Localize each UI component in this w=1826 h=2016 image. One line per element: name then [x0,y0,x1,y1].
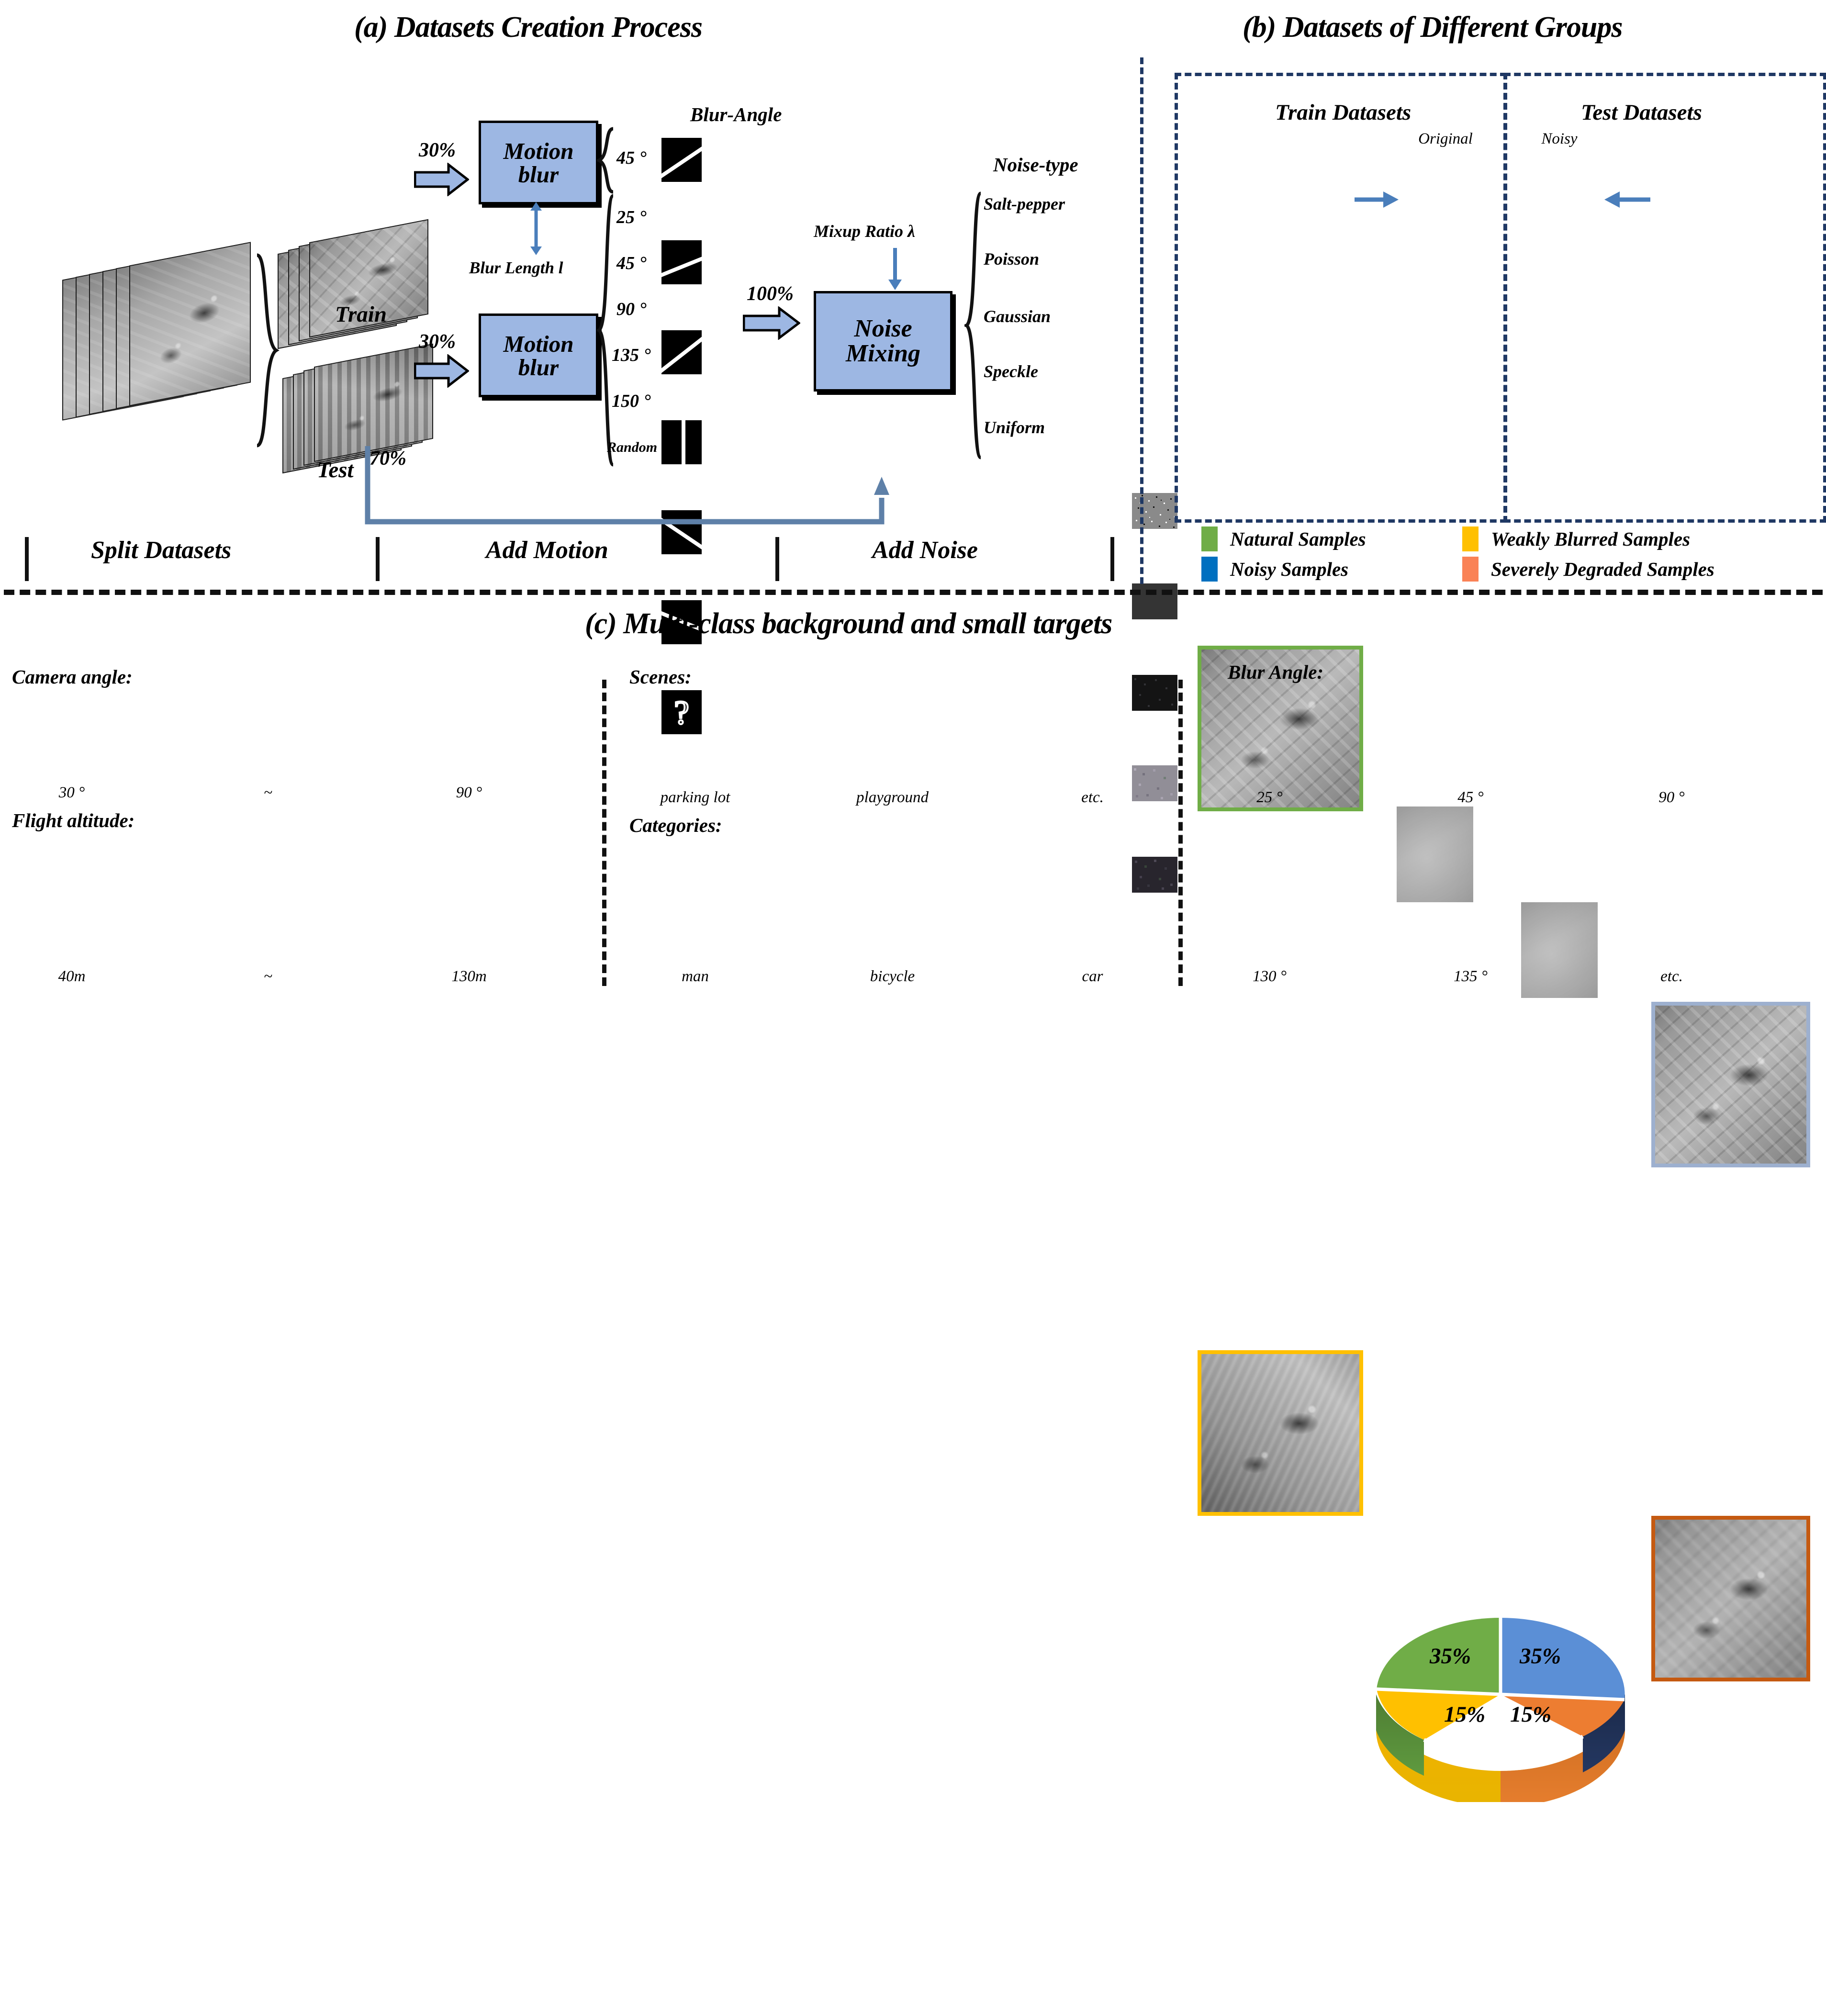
svg-text:?: ? [674,694,689,731]
stage-label-0: Split Datasets [91,536,231,564]
train-label: Train [335,302,387,327]
stage-divider-0 [25,537,29,581]
blur-angle-caption-0: 25 ° [1228,789,1311,806]
motion-blur-line2: blur [518,163,559,186]
blur-angle-caption-1: 45 ° [1429,789,1512,806]
motion-blur-box-test[interactable]: Motion blur [479,314,598,397]
noise-swatch-uniform [1132,857,1177,893]
noisy-thumb [1521,902,1598,998]
blur-kernel-25 [661,240,702,284]
pie-label-yellow: 15% [1444,1702,1485,1727]
stage-divider-1 [376,537,380,581]
blur-angle-label-0: 45 ° [616,147,647,168]
motion-blur-line1-b: Motion [503,332,573,356]
panel-c-title: (c) Multi-class background and small tar… [585,607,1112,641]
noise-type-label-4: Uniform [984,417,1045,437]
train-datasets-header: Train Datasets [1275,100,1411,125]
flight-altitude-caption-0: 40m [19,968,124,986]
categories-caption-1: bicycle [848,968,937,986]
stage-divider-2 [775,537,779,581]
noise-swatch-salt-pepper [1132,493,1177,529]
blur-angle-caption-4: 135 ° [1429,968,1512,986]
camera-angle-caption-2: 90 ° [426,784,512,802]
blur-angle-label-3: 90 ° [616,299,647,320]
scenes-caption-0: parking lot [651,789,739,806]
motion-blur-box-train[interactable]: Motion blur [479,121,598,204]
noise-type-label-3: Speckle [984,361,1038,381]
scenes-caption-1: playground [848,789,937,806]
panel-a-title: (a) Datasets Creation Process [354,11,702,45]
scenes-header: Scenes: [629,665,692,688]
noisy-label: Noisy [1521,130,1598,148]
sample-severely-degraded-image [1651,1516,1810,1681]
blur-kernel-45a [661,138,702,182]
flight-altitude-caption-2: 130m [426,968,512,986]
bypass-path-icon [364,445,890,536]
stage-label-1: Add Motion [486,536,608,564]
arrow-to-noisemixing-icon [743,306,800,340]
arrow-natural-to-original-icon [1355,188,1400,212]
pie-label-orange: 15% [1510,1702,1551,1727]
noise-swatch-poisson [1132,583,1177,619]
blur-angle-label-1: 25 ° [616,207,647,228]
camera-angle-header: Camera angle: [12,665,133,688]
scenes-caption-2: etc. [1048,789,1137,806]
blur-angle-header: Blur-Angle [690,103,782,126]
noise-type-label-2: Gaussian [984,306,1051,326]
legend-swatch-noisy [1201,557,1218,582]
categories-caption-0: man [651,968,739,986]
percent-train-blur: 30% [419,139,456,162]
sample-weakly-blurred-image [1198,1350,1363,1516]
legend-item-weakly-blurred: Weakly Blurred Samples [1462,526,1690,551]
arrow-test-to-motionblur-icon [414,354,469,388]
blur-kernel-random: ? [661,690,702,734]
source-image-stack [62,254,254,445]
camera-angle-caption-0: 30 ° [19,784,124,802]
pie-label-green: 35% [1430,1643,1471,1669]
panel-c-divider-2 [1178,680,1183,986]
noise-mixing-box[interactable]: Noise Mixing [814,291,952,392]
percent-to-noise: 100% [747,282,794,305]
noise-type-label-1: Poisson [984,249,1039,269]
noise-type-brace [964,191,984,459]
blur-angle-caption-5: etc. [1630,968,1714,986]
legend-label-natural: Natural Samples [1230,527,1366,550]
blur-angle-label-4: 135 ° [612,345,651,366]
stage-divider-3 [1110,537,1114,581]
legend-label-severely-degraded: Severely Degraded Samples [1491,558,1714,581]
categories-caption-2: car [1048,968,1137,986]
motion-blur-line2-b: blur [518,356,559,379]
sample-noisy-image [1651,1002,1810,1167]
legend-label-noisy: Noisy Samples [1230,558,1348,581]
legend-item-severely-degraded: Severely Degraded Samples [1462,557,1714,582]
panel-ab-divider [1140,57,1143,584]
mixup-ratio-label: Mixup Ratio λ [814,221,915,241]
blur-angle-caption-2: 90 ° [1630,789,1714,806]
mixup-ratio-arrow-icon [885,248,905,291]
noise-mixing-line1: Noise [854,316,912,341]
blur-angle-brace-group1 [597,127,616,194]
arrow-noisy-to-thumb-icon [1602,188,1650,212]
panel-c-top-divider [4,590,1823,595]
blur-angle-section-header: Blur Angle: [1228,661,1323,683]
camera-angle-caption-1: ~ [225,784,311,802]
motion-blur-line1: Motion [503,139,573,163]
panel-b-title: (b) Datasets of Different Groups [1243,11,1623,45]
flight-altitude-header: Flight altitude: [12,809,134,832]
noise-swatch-gaussian [1132,675,1177,711]
split-brace [251,251,280,452]
test-datasets-header: Test Datasets [1581,100,1702,125]
legend-swatch-severely-degraded [1462,557,1479,582]
arrow-train-to-motionblur-icon [414,163,469,196]
noise-type-label-0: Salt-pepper [984,194,1065,214]
legend-item-natural: Natural Samples [1201,526,1366,551]
panel-c-divider-1 [602,680,606,986]
blur-length-label: Blur Length l [469,258,563,278]
flight-altitude-caption-1: ~ [225,968,311,986]
percent-test-blur: 30% [419,330,456,353]
blur-angle-label-5: 150 ° [612,391,651,412]
legend-swatch-natural [1201,526,1218,551]
original-thumb [1397,806,1473,902]
legend-label-weakly-blurred: Weakly Blurred Samples [1491,527,1690,550]
legend-swatch-weakly-blurred [1462,526,1479,551]
legend-item-noisy: Noisy Samples [1201,557,1348,582]
noise-type-header: Noise-type [993,153,1078,176]
blur-angle-caption-3: 130 ° [1228,968,1311,986]
blur-angle-brace-group2 [597,194,616,467]
dataset-distribution-pie-chart: 35% 35% 15% 15% [1367,1587,1635,1802]
blur-kernel-45b [661,330,702,374]
stage-label-2: Add Noise [872,536,978,564]
pie-label-blue: 35% [1520,1643,1561,1669]
blur-angle-label-2: 45 ° [616,253,647,274]
categories-header: Categories: [629,814,722,837]
test-label: Test [317,457,354,483]
noise-swatch-speckle [1132,765,1177,801]
blur-length-double-arrow-icon [527,201,546,256]
original-label: Original [1402,130,1489,148]
noise-mixing-line2: Mixing [846,341,920,366]
